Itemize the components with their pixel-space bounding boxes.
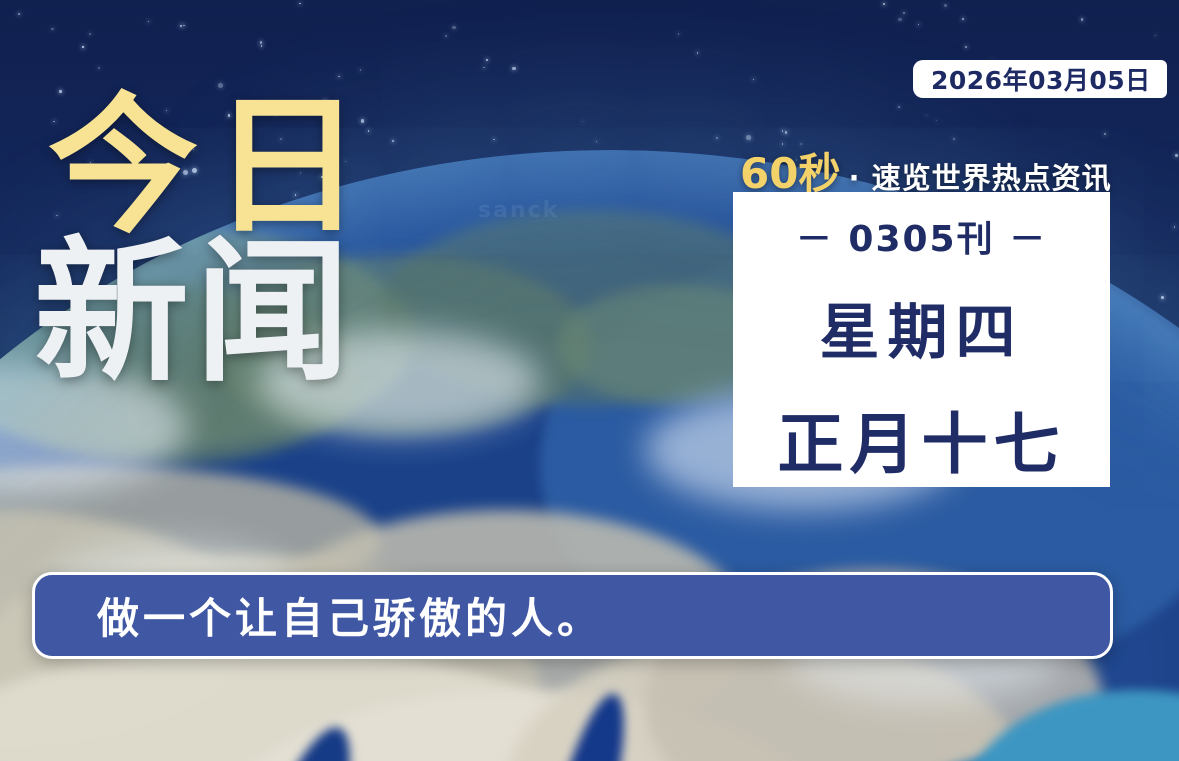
issue-number: － 0305刊 －	[796, 210, 1047, 262]
poster-title: 今日 新闻	[48, 92, 376, 392]
quote-text: 做一个让自己骄傲的人。	[97, 585, 603, 646]
news-poster: sanck 2026年03月05日 60秒 · 速览世界热点资讯 今日 新闻 －…	[0, 0, 1179, 761]
issue-info-card: － 0305刊 － 星期四 正月十七	[733, 192, 1110, 487]
watermark-text: sanck	[478, 198, 559, 223]
date-badge: 2026年03月05日	[913, 60, 1167, 98]
weekday-label: 星期四	[820, 284, 1024, 371]
lunar-date: 正月十七	[778, 391, 1066, 487]
title-line-1: 今日	[48, 92, 376, 242]
title-line-2: 新闻	[34, 234, 376, 392]
quote-bar: 做一个让自己骄傲的人。	[32, 572, 1113, 659]
tagline-rest: · 速览世界热点资讯	[848, 155, 1111, 197]
